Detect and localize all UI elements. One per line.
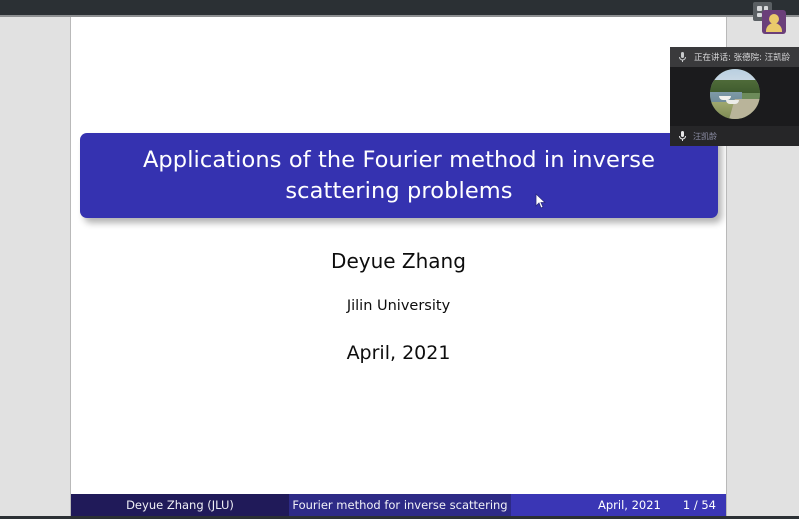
video-panel-footer: 汪凯龄 bbox=[670, 126, 799, 146]
participant-name-label: 汪凯龄 bbox=[693, 131, 717, 142]
avatar-body-shape bbox=[766, 23, 782, 32]
footline-short-title: Fourier method for inverse scattering bbox=[289, 494, 511, 516]
footline-right-group: April, 2021 1 / 54 bbox=[511, 494, 726, 516]
video-stage bbox=[670, 67, 799, 126]
footline-date: April, 2021 bbox=[598, 498, 661, 512]
slide-title-block: Applications of the Fourier method in in… bbox=[80, 133, 718, 218]
footline-author: Deyue Zhang (JLU) bbox=[71, 494, 289, 516]
beamer-slide[interactable]: Applications of the Fourier method in in… bbox=[70, 17, 727, 516]
zoom-video-panel[interactable]: 正在讲话: 张德院: 汪凯龄 汪凯龄 bbox=[670, 47, 799, 146]
slide-date: April, 2021 bbox=[71, 342, 726, 364]
avatar-photo-boat bbox=[726, 100, 739, 104]
microphone-icon bbox=[678, 51, 687, 63]
apps-grid-cell bbox=[757, 13, 762, 18]
participant-photo-avatar bbox=[710, 69, 760, 119]
slide-author: Deyue Zhang bbox=[71, 249, 726, 273]
apps-grid-cell bbox=[757, 6, 762, 11]
slide-affiliation: Jilin University bbox=[71, 298, 726, 314]
video-panel-header: 正在讲话: 张德院: 汪凯龄 bbox=[670, 47, 799, 67]
slide-title: Applications of the Fourier method in in… bbox=[98, 145, 700, 207]
user-avatar-icon[interactable] bbox=[762, 10, 786, 34]
footline-page-number: 1 / 54 bbox=[683, 498, 716, 512]
app-top-bar bbox=[0, 0, 799, 15]
microphone-icon[interactable] bbox=[678, 130, 687, 142]
active-speaker-label: 正在讲话: 张德院: 汪凯龄 bbox=[694, 51, 790, 63]
slide-footline: Deyue Zhang (JLU) Fourier method for inv… bbox=[71, 494, 726, 516]
